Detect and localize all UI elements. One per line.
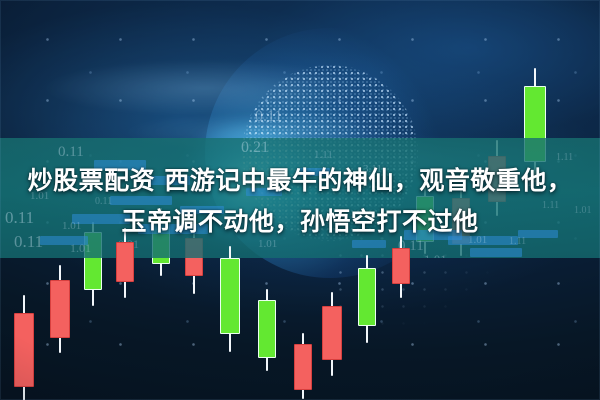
image-border bbox=[0, 0, 600, 400]
floating-number: 0.11 bbox=[255, 108, 282, 126]
hero-banner-image: 0.11 0.110.111.010.111.011.010.110.210.2… bbox=[0, 0, 600, 400]
